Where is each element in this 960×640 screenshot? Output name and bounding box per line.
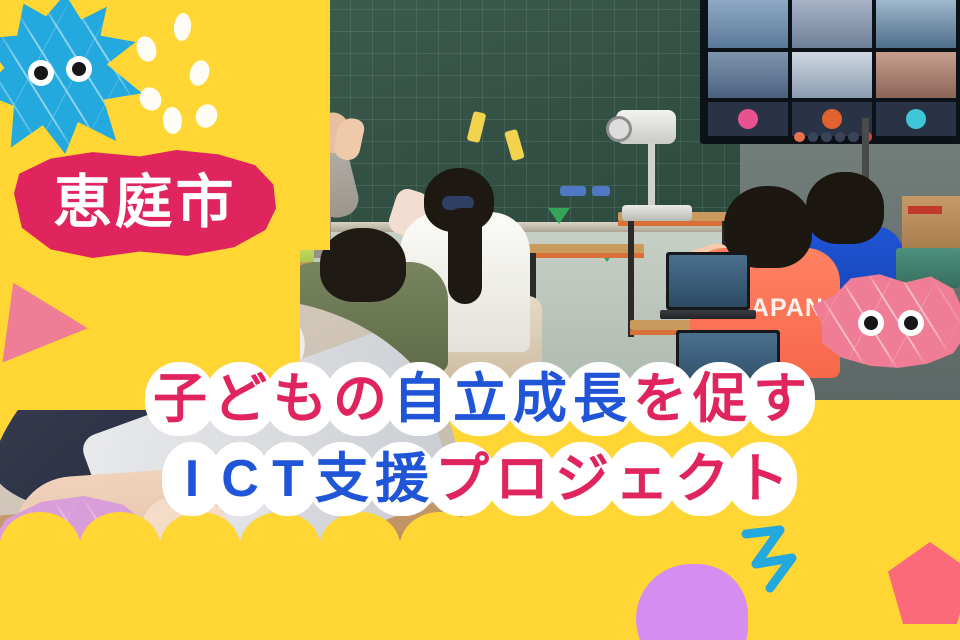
char-glyph: 子	[153, 372, 207, 430]
char-glyph: も	[273, 372, 327, 430]
video-tile	[708, 52, 788, 98]
student-desk	[520, 244, 644, 253]
video-tile	[876, 0, 956, 48]
student-b-ponytail	[448, 208, 482, 304]
char-glyph: ト	[735, 452, 789, 510]
blue-zigzag-icon	[740, 524, 820, 594]
video-tile-avatar	[876, 102, 956, 136]
document-camera-head	[616, 110, 676, 144]
video-tile	[792, 52, 872, 98]
char-glyph: ど	[213, 372, 267, 430]
city-name: 恵庭市	[14, 150, 276, 258]
char-glyph: 成	[513, 372, 567, 430]
mascot-eye-left	[858, 310, 884, 336]
poster-canvas: JAPAN	[0, 0, 960, 640]
video-toolbar	[794, 132, 872, 142]
char-glyph: ロ	[495, 452, 549, 510]
headline-char: す	[743, 358, 817, 444]
char-glyph: 援	[375, 452, 429, 510]
document-camera-base	[622, 205, 692, 221]
city-badge: 恵庭市	[14, 150, 276, 258]
headline: 子どもの自立成長を促す ICT支援プロジェクト	[0, 358, 960, 524]
board-magnet	[592, 186, 610, 196]
char-glyph: C	[221, 453, 259, 509]
laptop-base	[660, 310, 756, 319]
char-glyph: I	[185, 453, 199, 509]
char-glyph: す	[753, 372, 807, 430]
headline-line-2: ICT支援プロジェクト	[0, 438, 960, 524]
mascot-eye-left	[28, 60, 54, 86]
char-glyph: 支	[315, 452, 369, 510]
char-glyph: を	[633, 372, 687, 430]
char-glyph: の	[333, 372, 387, 430]
char-glyph: ク	[675, 452, 729, 510]
board-marker	[548, 208, 570, 224]
video-tile-avatar	[792, 102, 872, 136]
char-glyph: 促	[693, 372, 747, 430]
char-glyph: T	[272, 453, 304, 509]
char-glyph: ェ	[615, 452, 669, 510]
desk-leg	[628, 221, 634, 319]
board-magnet	[560, 186, 586, 196]
video-tile	[792, 0, 872, 48]
mascot-eye-right	[66, 56, 92, 82]
headline-char: ト	[725, 438, 799, 524]
student-laptop	[666, 252, 750, 310]
char-glyph: 立	[453, 372, 507, 430]
char-glyph: ジ	[555, 452, 609, 510]
video-tile	[708, 0, 788, 48]
student-d-hair	[806, 172, 884, 244]
char-glyph: プ	[435, 452, 489, 510]
video-tile	[876, 52, 956, 98]
headline-line-1: 子どもの自立成長を促す	[0, 358, 960, 444]
char-glyph: 自	[393, 372, 447, 430]
video-conference-display	[700, 0, 960, 144]
char-glyph: 長	[573, 372, 627, 430]
video-tile-avatar	[708, 102, 788, 136]
cardboard-box	[902, 196, 960, 250]
mascot-eye-right	[898, 310, 924, 336]
